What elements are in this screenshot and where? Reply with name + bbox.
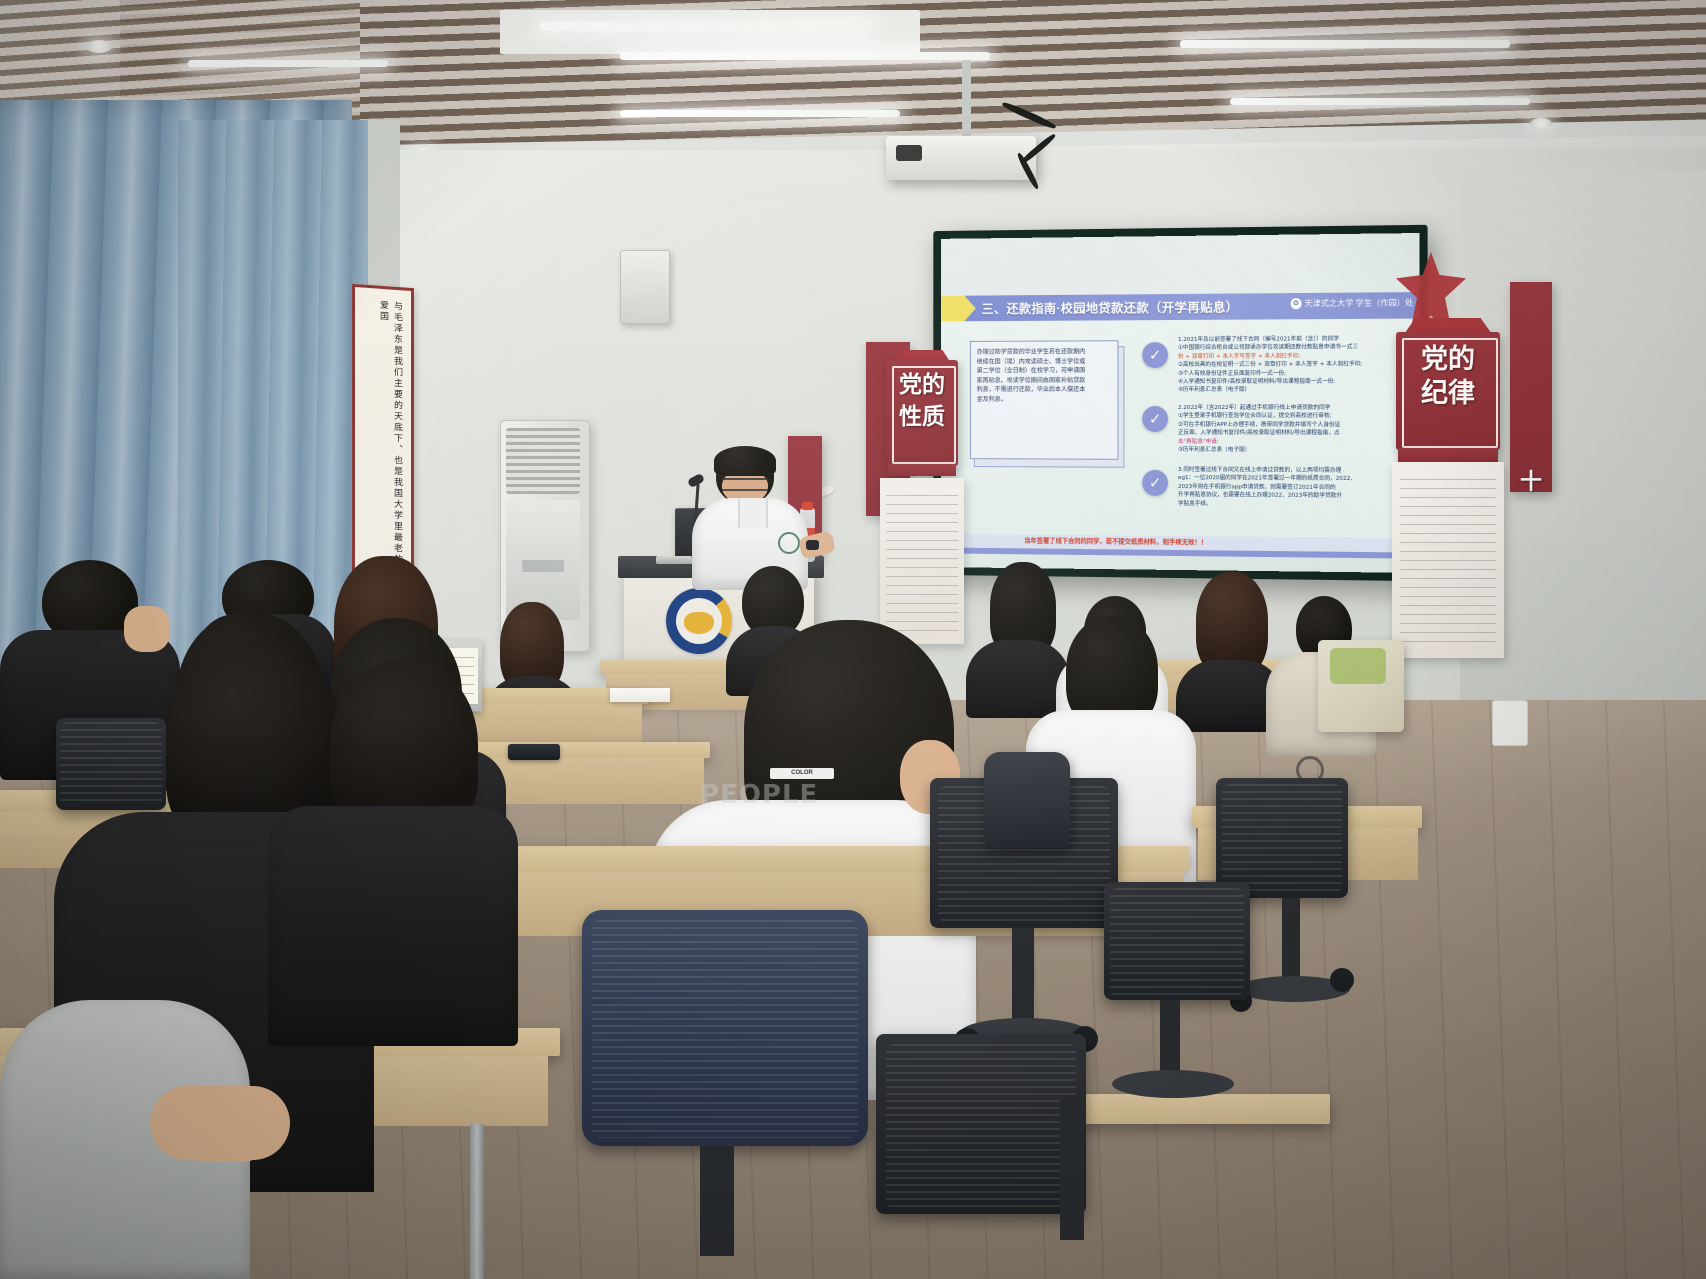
ceiling-panel bbox=[500, 10, 920, 54]
smartphone[interactable] bbox=[508, 744, 560, 760]
wall-outlet bbox=[1492, 700, 1528, 746]
slide-left-line: 家再贴息。攻读学位期间由国家补贴贷款 bbox=[977, 376, 1112, 386]
air-conditioner-vent bbox=[506, 428, 580, 494]
snack-bag-graphic bbox=[1330, 648, 1386, 684]
left-party-board-line2: 性质 bbox=[892, 404, 952, 430]
ceiling-light-strip bbox=[540, 22, 870, 31]
slide-col1-line: ④入学通知书复印件/高校录取证明材料/导出课程指南一式一份; bbox=[1178, 378, 1413, 387]
desk-front-panel bbox=[476, 758, 704, 804]
ceiling-light-strip bbox=[1230, 98, 1530, 105]
slide-col2-line: 正反面、入学通知书复印件/高校录取证明材料/导出课程指南，点 bbox=[1178, 429, 1413, 438]
ceiling-light-strip bbox=[620, 110, 900, 117]
slide-body: 三、还款指南·校园地贷款还款（开学再贴息） ✿ 天津式之大学 学生（作园）处 办… bbox=[941, 292, 1419, 546]
slide-org-logo-text: 天津式之大学 学生（作园）处 bbox=[1304, 297, 1413, 309]
chair-mesh bbox=[60, 722, 162, 806]
water-bottle-cap bbox=[802, 502, 813, 510]
projector-mount-pole bbox=[962, 60, 971, 138]
slide-column-3: 3.同时签署过线下合同又在线上申请过贷款的，以上两项均需办理 eg1：一位202… bbox=[1178, 466, 1413, 510]
slide-left-line: 办理过助学贷款的毕业学生若在还款期内 bbox=[977, 347, 1112, 357]
ceiling-downlight bbox=[86, 40, 112, 53]
right-party-board-line2: 纪律 bbox=[1402, 378, 1494, 409]
projection-screen[interactable]: 三、还款指南·校园地贷款还款（开学再贴息） ✿ 天津式之大学 学生（作园）处 办… bbox=[941, 233, 1419, 573]
presenter-hair bbox=[714, 446, 776, 476]
checkmark-icon: ✓ bbox=[1142, 470, 1168, 496]
slide-left-textbox: 办理过助学贷款的毕业学生若在还款期内 继续在国（境）内攻读硕士、博士学位或 第二… bbox=[970, 340, 1119, 459]
chair-mesh bbox=[1110, 888, 1244, 996]
slide-column-1: 1.2021年及以前签署了线下合同（编号2021年前（含））的同学 ①中国银行综… bbox=[1178, 335, 1413, 395]
chair-base bbox=[1112, 1070, 1234, 1098]
slide-column-2: 2.2022年（含2022年）起通过手机银行线上申请贷款的同学 ①学生登录手机银… bbox=[1178, 404, 1413, 455]
right-info-board-text bbox=[1400, 476, 1496, 646]
slide-left-line: 继续在国（境）内攻读硕士、博士学位或 bbox=[977, 357, 1112, 367]
shirt-tag: COLOR bbox=[770, 768, 834, 779]
presenter-collar bbox=[738, 498, 768, 528]
glasses-icon bbox=[722, 478, 768, 491]
podium-crest-center bbox=[684, 612, 714, 634]
slide-left-line: 金及利息。 bbox=[977, 395, 1112, 404]
chair-stem bbox=[1282, 898, 1300, 984]
slide-col2-line: 2.2022年（含2022年）起通过手机银行线上申请贷款的同学 bbox=[1178, 404, 1413, 413]
slide-col1-line: ⑤历年利息汇总表（电子版） bbox=[1178, 386, 1413, 395]
audience-torso bbox=[268, 806, 518, 1046]
desk bbox=[470, 742, 710, 758]
classroom-photo: 与毛泽东是我们主要的天底下、也是我国大学里最老的爱国 三、还款指南·校园地贷款还… bbox=[0, 0, 1706, 1279]
chair-stem bbox=[1060, 1100, 1084, 1240]
right-party-board-line1: 党的 bbox=[1402, 344, 1494, 375]
checkmark-icon: ✓ bbox=[1142, 342, 1168, 368]
audience-hand bbox=[124, 606, 170, 652]
chair-mesh bbox=[1222, 784, 1342, 894]
slide-col2-line: ③历年利息汇总表（电子版） bbox=[1178, 446, 1413, 455]
right-party-board-base bbox=[1398, 448, 1498, 462]
projector-lens-icon bbox=[896, 145, 922, 161]
slide-org-logo: ✿ 天津式之大学 学生（作园）处 bbox=[1290, 297, 1413, 309]
ceiling-light-strip bbox=[1180, 40, 1510, 48]
slide-col3-line: 学贴息手续。 bbox=[1178, 500, 1413, 510]
audience-torso bbox=[966, 640, 1070, 718]
left-party-board-line1: 党的 bbox=[892, 372, 952, 398]
presenter-shirt-logo-icon bbox=[778, 532, 800, 554]
backpack bbox=[984, 752, 1070, 848]
calligraphy-scroll-text: 与毛泽东是我们主要的天底下、也是我国大学里最老的爱国 bbox=[358, 298, 404, 571]
papers bbox=[610, 688, 670, 702]
chair-wheel bbox=[1330, 968, 1354, 992]
slide-col3-line: 升学再贴息协议，也需要在线上办理2022、2023年的助学贷款升 bbox=[1178, 491, 1413, 501]
audience-hand-foreground bbox=[176, 1100, 272, 1162]
chair-mesh bbox=[592, 920, 858, 1138]
right-panel-char: 十 bbox=[1514, 470, 1548, 496]
desk-leg bbox=[470, 1124, 484, 1279]
ceiling-light-strip bbox=[620, 52, 990, 60]
right-red-panel bbox=[1510, 282, 1552, 492]
checkmark-icon: ✓ bbox=[1142, 406, 1168, 432]
slide-left-line: 利息，不需进行还款，毕业后本人偿还本 bbox=[977, 385, 1112, 395]
wall-speaker bbox=[620, 250, 670, 324]
air-conditioner-logo bbox=[522, 560, 564, 572]
slide-col2-line: ①学生登录手机银行查验学位合同认证，提交到高校进行审核; bbox=[1178, 412, 1413, 421]
chair-mesh bbox=[886, 1044, 1076, 1208]
left-info-board-text bbox=[886, 492, 958, 632]
chair-stem bbox=[1012, 928, 1034, 1028]
shirt-tag-text: COLOR bbox=[791, 770, 813, 776]
shirt-text: PEOPLE bbox=[700, 780, 818, 810]
slide-left-line: 第二学位（全日制）在校学习，可申请国 bbox=[977, 366, 1112, 376]
ceiling-downlight bbox=[1530, 118, 1552, 129]
chair-stem bbox=[700, 1146, 734, 1256]
logo-mark-icon: ✿ bbox=[1290, 298, 1301, 309]
slide-title: 三、还款指南·校园地贷款还款（开学再贴息） bbox=[982, 297, 1239, 318]
presenter-watch bbox=[806, 540, 819, 550]
ceiling-light-strip bbox=[188, 60, 388, 67]
left-party-board-base bbox=[888, 464, 956, 476]
